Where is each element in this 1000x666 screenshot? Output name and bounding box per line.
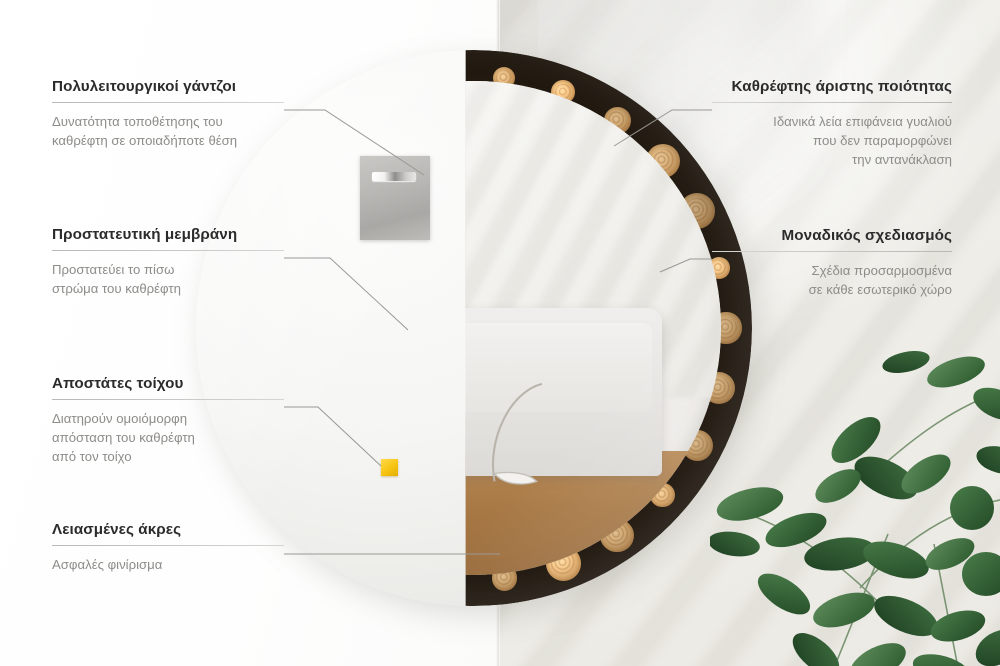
feature-title: Καθρέφτης άριστης ποιότητας: [712, 78, 952, 95]
feature-desc-line: που δεν παραμορφώνει: [712, 131, 952, 150]
feature-desc-line: από τον τοίχο: [52, 447, 284, 466]
feature-desc-line: σε κάθε εσωτερικό χώρο: [712, 280, 952, 299]
feature-desc-line: Ιδανικά λεία επιφάνεια γυαλιού: [712, 112, 952, 131]
feature-rule: [52, 545, 284, 546]
feature-desc-line: απόσταση του καθρέφτη: [52, 428, 284, 447]
feature-rule: [52, 102, 284, 103]
feature-rule: [52, 399, 284, 400]
wall-spacer: [381, 459, 398, 476]
hanging-hook-plate: [360, 156, 430, 240]
feature-block-smooth-edges: Λειασμένες άκρες Ασφαλές φινίρισμα: [52, 521, 284, 574]
feature-desc-line: Προστατεύει το πίσω: [52, 260, 284, 279]
feature-title: Προστατευτική μεμβράνη: [52, 226, 284, 243]
feature-title: Αποστάτες τοίχου: [52, 375, 284, 392]
foliage-branches: [710, 348, 1000, 666]
infographic-canvas: Πολυλειτουργικοί γάντζοι Δυνατότητα τοπο…: [0, 0, 1000, 666]
feature-desc-line: Ασφαλές φινίρισμα: [52, 555, 284, 574]
feature-desc-line: Σχέδια προσαρμοσμένα: [712, 261, 952, 280]
feature-title: Πολυλειτουργικοί γάντζοι: [52, 78, 284, 95]
feature-rule: [712, 251, 952, 252]
feature-block-unique-design: Μοναδικός σχεδιασμός Σχέδια προσαρμοσμέν…: [712, 227, 952, 299]
feature-rule: [712, 102, 952, 103]
feature-desc-line: καθρέφτη σε οποιαδήποτε θέση: [52, 131, 284, 150]
feature-title: Μοναδικός σχεδιασμός: [712, 227, 952, 244]
feature-desc-line: Δυνατότητα τοποθέτησης του: [52, 112, 284, 131]
feature-block-mirror-quality: Καθρέφτης άριστης ποιότητας Ιδανικά λεία…: [712, 78, 952, 169]
feature-desc-line: την αντανάκλαση: [712, 150, 952, 169]
feature-title: Λειασμένες άκρες: [52, 521, 284, 538]
feature-block-protective-film: Προστατευτική μεμβράνη Προστατεύει το πί…: [52, 226, 284, 298]
feature-rule: [52, 250, 284, 251]
hook-slot: [372, 172, 416, 181]
feature-desc-line: Διατηρούν ομοιόμορφη: [52, 409, 284, 428]
feature-block-hooks: Πολυλειτουργικοί γάντζοι Δυνατότητα τοπο…: [52, 78, 284, 150]
feature-block-wall-spacers: Αποστάτες τοίχου Διατηρούν ομοιόμορφη απ…: [52, 375, 284, 466]
feature-desc-line: στρώμα του καθρέφτη: [52, 279, 284, 298]
